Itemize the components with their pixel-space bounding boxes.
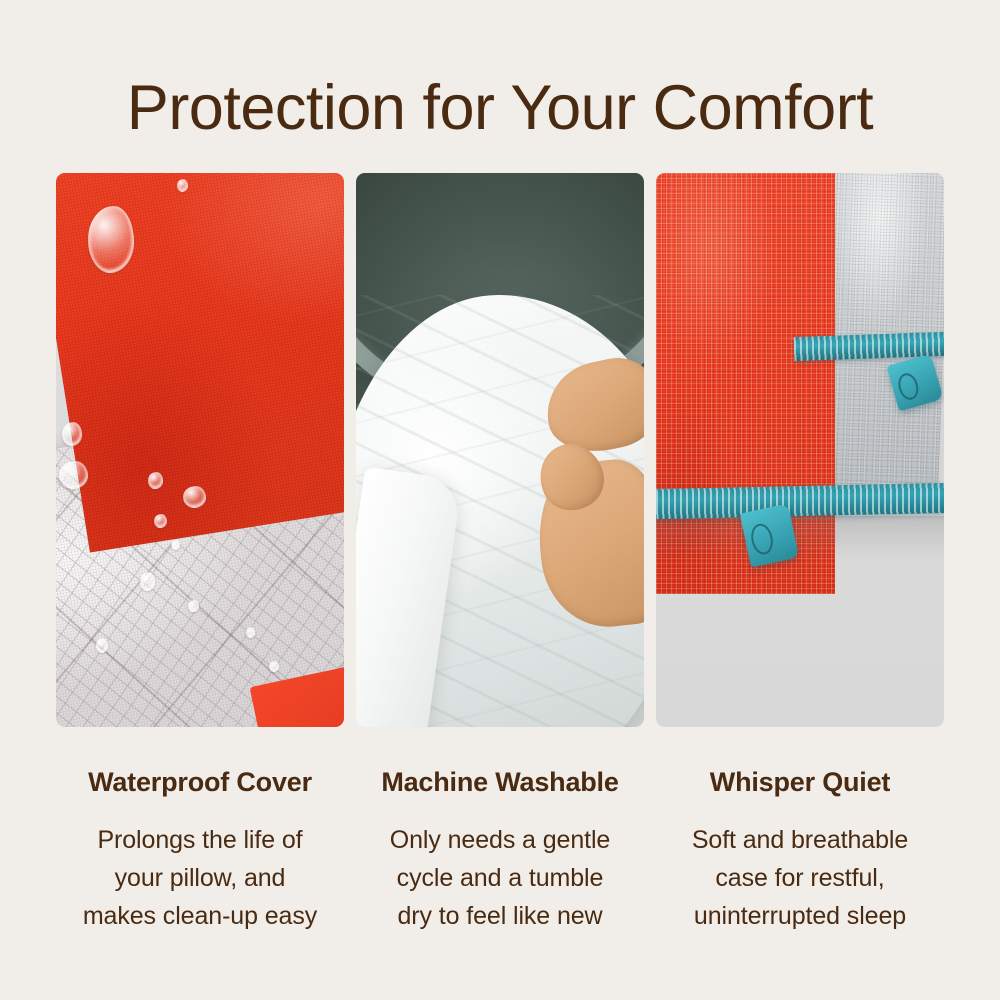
water-droplet-icon — [177, 179, 189, 192]
caption-body-line: dry to feel like new — [356, 897, 644, 935]
water-droplet-icon — [96, 638, 108, 652]
water-droplet-icon — [88, 206, 134, 272]
caption-body: Prolongs the life of your pillow, and ma… — [56, 821, 344, 935]
water-droplet-icon — [148, 472, 162, 489]
water-droplet-icon — [183, 486, 206, 508]
caption-body-line: Prolongs the life of — [56, 821, 344, 859]
feature-image-waterproof-cover — [56, 173, 344, 727]
caption-title: Machine Washable — [356, 765, 644, 799]
caption-body-line: makes clean-up easy — [56, 897, 344, 935]
feature-image-whisper-quiet — [656, 173, 944, 727]
caption-machine-washable: Machine Washable Only needs a gentle cyc… — [356, 765, 644, 935]
fabric-shadow — [656, 516, 944, 560]
caption-waterproof-cover: Waterproof Cover Prolongs the life of yo… — [56, 765, 344, 935]
zipper-teeth — [656, 483, 944, 520]
caption-body-line: cycle and a tumble — [356, 859, 644, 897]
infographic-page: Protection for Your Comfort — [0, 0, 1000, 1000]
water-droplet-icon — [171, 539, 180, 550]
water-droplet-icon — [188, 600, 198, 612]
water-droplet-icon — [59, 461, 88, 489]
water-droplet-icon — [269, 661, 279, 673]
zipper-main — [656, 483, 944, 520]
water-droplet-icon — [246, 627, 255, 638]
feature-image-machine-washable — [356, 173, 644, 727]
caption-title: Waterproof Cover — [56, 765, 344, 799]
feature-caption-row: Waterproof Cover Prolongs the life of yo… — [56, 765, 944, 935]
water-droplet-icon — [62, 422, 82, 445]
caption-body-line: your pillow, and — [56, 859, 344, 897]
page-title: Protection for Your Comfort — [0, 74, 1000, 142]
water-droplet-icon — [140, 572, 156, 591]
water-droplet-icon — [154, 514, 167, 528]
caption-body-line: case for restful, — [656, 859, 944, 897]
caption-title: Whisper Quiet — [656, 765, 944, 799]
caption-body: Soft and breathable case for restful, un… — [656, 821, 944, 935]
caption-body: Only needs a gentle cycle and a tumble d… — [356, 821, 644, 935]
caption-body-line: uninterrupted sleep — [656, 897, 944, 935]
caption-body-line: Only needs a gentle — [356, 821, 644, 859]
feature-image-row — [56, 173, 944, 727]
caption-whisper-quiet: Whisper Quiet Soft and breathable case f… — [656, 765, 944, 935]
caption-body-line: Soft and breathable — [656, 821, 944, 859]
